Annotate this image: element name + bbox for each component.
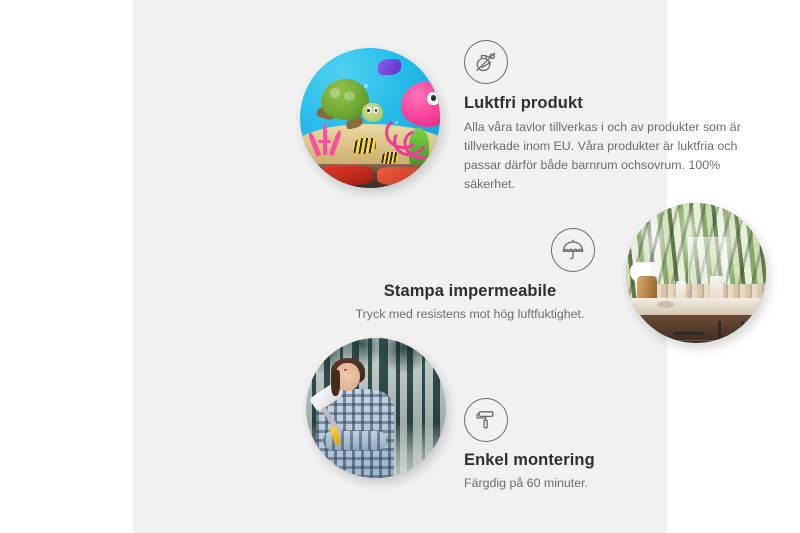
soap-dish <box>657 301 674 308</box>
paint-roller-icon <box>464 398 508 442</box>
vanity-cabinet <box>632 315 766 343</box>
feature-body: Tryck med resistens mot hög luftfuktighe… <box>345 305 595 324</box>
octopus-icon <box>384 82 440 155</box>
no-perfume-icon <box>464 40 508 84</box>
content-panel: Luktfri produkt Alla våra tavlor tillver… <box>133 0 667 533</box>
woman-painter <box>314 360 395 478</box>
foreground-strip <box>300 164 440 188</box>
drawer-handle <box>674 332 705 335</box>
feature-body: Färgdig på 60 minuter. <box>464 474 744 493</box>
photo-bathroom-wallpaper <box>626 203 766 343</box>
feature-waterproof: Stampa impermeabile Tryck med resistens … <box>345 228 595 324</box>
photo-underwater-scene <box>300 48 440 188</box>
tumbler <box>676 281 686 299</box>
feature-title: Luktfri produkt <box>464 94 764 113</box>
product-feature-infographic: Luktfri produkt Alla våra tavlor tillver… <box>0 0 800 533</box>
feature-title: Enkel montering <box>464 451 744 470</box>
feature-body: Alla våra tavlor tillverkas i och av pro… <box>464 118 764 193</box>
fish-yellow-icon <box>353 138 375 155</box>
cabinet-handle <box>741 321 744 339</box>
cabinet-handle <box>718 321 721 339</box>
feature-title: Stampa impermeabile <box>345 282 595 301</box>
turtle-icon <box>317 79 384 135</box>
feature-mounting: Enkel montering Färgdig på 60 minuter. <box>464 398 744 493</box>
photo-painter-forest <box>306 338 446 478</box>
feature-odourless: Luktfri produkt Alla våra tavlor tillver… <box>464 40 764 193</box>
umbrella-icon <box>551 228 595 272</box>
fish-purple-icon <box>378 59 400 74</box>
